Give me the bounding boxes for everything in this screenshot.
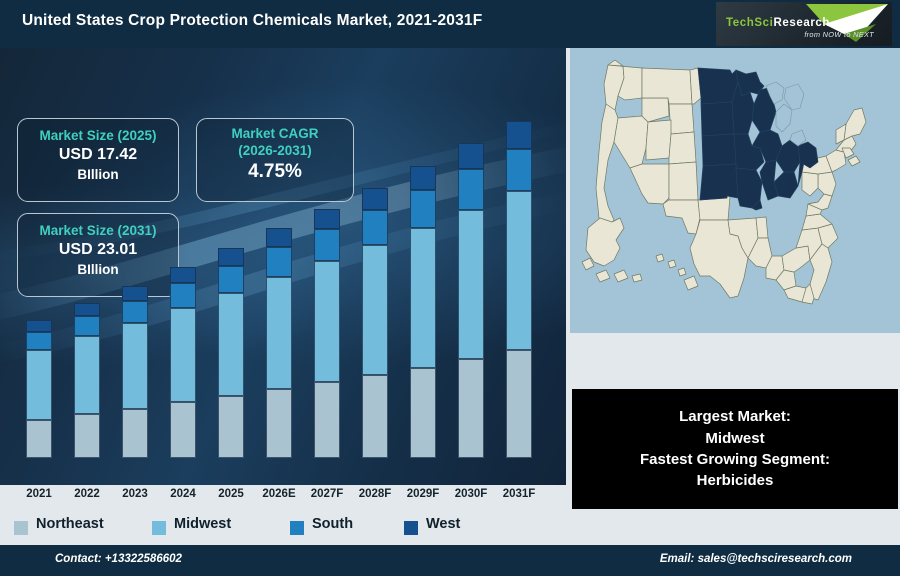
bar-segment-midwest-2023	[122, 323, 148, 408]
infographic-page: United States Crop Protection Chemicals …	[0, 0, 900, 576]
bar-segment-northeast-2029F	[410, 368, 436, 458]
bar-segment-midwest-2031F	[506, 191, 532, 350]
bar-segment-south-2021	[26, 332, 52, 350]
bar-segment-south-2023	[122, 301, 148, 323]
us-map-svg	[570, 48, 900, 333]
bar-segment-midwest-2024	[170, 308, 196, 402]
fastest-growing-segment-label: Fastest Growing Segment:	[580, 449, 890, 470]
bar-2026E	[266, 228, 292, 458]
legend-label-west: West	[426, 516, 460, 532]
bar-segment-west-2022	[74, 303, 100, 316]
bar-segment-midwest-2025	[218, 293, 244, 397]
bar-segment-south-2022	[74, 316, 100, 336]
largest-market-label: Largest Market:	[580, 406, 890, 427]
bar-2024	[170, 267, 196, 458]
bar-segment-midwest-2029F	[410, 228, 436, 368]
bar-segment-midwest-2027F	[314, 261, 340, 382]
logo-tagline: from NOW to NEXT	[804, 30, 874, 39]
bar-segment-west-2025	[218, 248, 244, 265]
logo-name-research: Research	[773, 17, 830, 29]
contact-phone: Contact: +13322586602	[55, 553, 182, 565]
bar-segment-south-2027F	[314, 229, 340, 262]
bar-segment-northeast-2024	[170, 402, 196, 458]
legend-label-northeast: Northeast	[36, 516, 104, 532]
bar-segment-south-2030F	[458, 169, 484, 210]
legend-swatch-south	[290, 521, 304, 535]
bar-segment-midwest-2026E	[266, 277, 292, 390]
bar-segment-south-2028F	[362, 210, 388, 245]
bar-segment-west-2030F	[458, 143, 484, 169]
bar-segment-west-2029F	[410, 166, 436, 190]
largest-market-value: Midwest	[580, 428, 890, 449]
stacked-bar-chart	[0, 48, 566, 485]
bar-segment-west-2031F	[506, 121, 532, 149]
bar-2021	[26, 320, 52, 458]
bar-segment-midwest-2030F	[458, 210, 484, 359]
legend-label-south: South	[312, 516, 353, 532]
bar-segment-midwest-2022	[74, 336, 100, 414]
x-axis-labels: 202120222023202420252026E2027F2028F2029F…	[0, 485, 566, 510]
bar-segment-west-2024	[170, 267, 196, 283]
bar-segment-west-2026E	[266, 228, 292, 247]
bar-segment-northeast-2023	[122, 409, 148, 458]
chart-panel: Market Size (2025) USD 17.42 BIllion Mar…	[0, 48, 566, 485]
bar-segment-south-2031F	[506, 149, 532, 191]
bar-2023	[122, 286, 148, 458]
bar-segment-northeast-2026E	[266, 389, 292, 458]
fastest-growing-segment-value: Herbicides	[580, 470, 890, 491]
bar-segment-south-2025	[218, 266, 244, 293]
bar-2027F	[314, 209, 340, 458]
logo-wordmark: TechSciResearch	[726, 17, 830, 29]
us-map	[570, 48, 900, 333]
techsci-research-logo: TechSciResearch from NOW to NEXT	[716, 2, 892, 46]
bar-segment-midwest-2028F	[362, 245, 388, 375]
legend-swatch-midwest	[152, 521, 166, 535]
legend-swatch-northeast	[14, 521, 28, 535]
bar-segment-south-2026E	[266, 247, 292, 277]
bar-segment-northeast-2025	[218, 396, 244, 458]
bar-segment-northeast-2030F	[458, 359, 484, 458]
bar-2022	[74, 303, 100, 458]
key-findings-box: Largest Market: Midwest Fastest Growing …	[572, 389, 898, 509]
footer-bar: Contact: +13322586602 Email: sales@techs…	[0, 545, 900, 576]
bar-segment-west-2023	[122, 286, 148, 301]
bar-segment-west-2027F	[314, 209, 340, 229]
bar-2028F	[362, 188, 388, 458]
main-stage: Market Size (2025) USD 17.42 BIllion Mar…	[0, 48, 900, 545]
page-title: United States Crop Protection Chemicals …	[22, 12, 482, 30]
bar-2025	[218, 248, 244, 458]
bar-segment-west-2028F	[362, 188, 388, 210]
contact-email: Email: sales@techsciresearch.com	[660, 553, 852, 565]
bar-segment-south-2029F	[410, 190, 436, 228]
bar-segment-northeast-2027F	[314, 382, 340, 458]
bar-segment-northeast-2022	[74, 414, 100, 458]
x-axis-label-2031F: 2031F	[490, 488, 548, 500]
legend-label-midwest: Midwest	[174, 516, 231, 532]
bar-2031F	[506, 121, 532, 458]
header-bar: United States Crop Protection Chemicals …	[0, 0, 900, 48]
bar-segment-northeast-2021	[26, 420, 52, 458]
chart-legend: NortheastMidwestSouthWest	[0, 510, 566, 545]
bar-2029F	[410, 166, 436, 458]
bar-segment-south-2024	[170, 283, 196, 308]
bar-segment-midwest-2021	[26, 350, 52, 419]
bar-segment-northeast-2028F	[362, 375, 388, 458]
bar-segment-northeast-2031F	[506, 350, 532, 458]
legend-swatch-west	[404, 521, 418, 535]
logo-name-tech: TechSci	[726, 17, 773, 29]
bar-segment-west-2021	[26, 320, 52, 332]
bar-2030F	[458, 143, 484, 458]
